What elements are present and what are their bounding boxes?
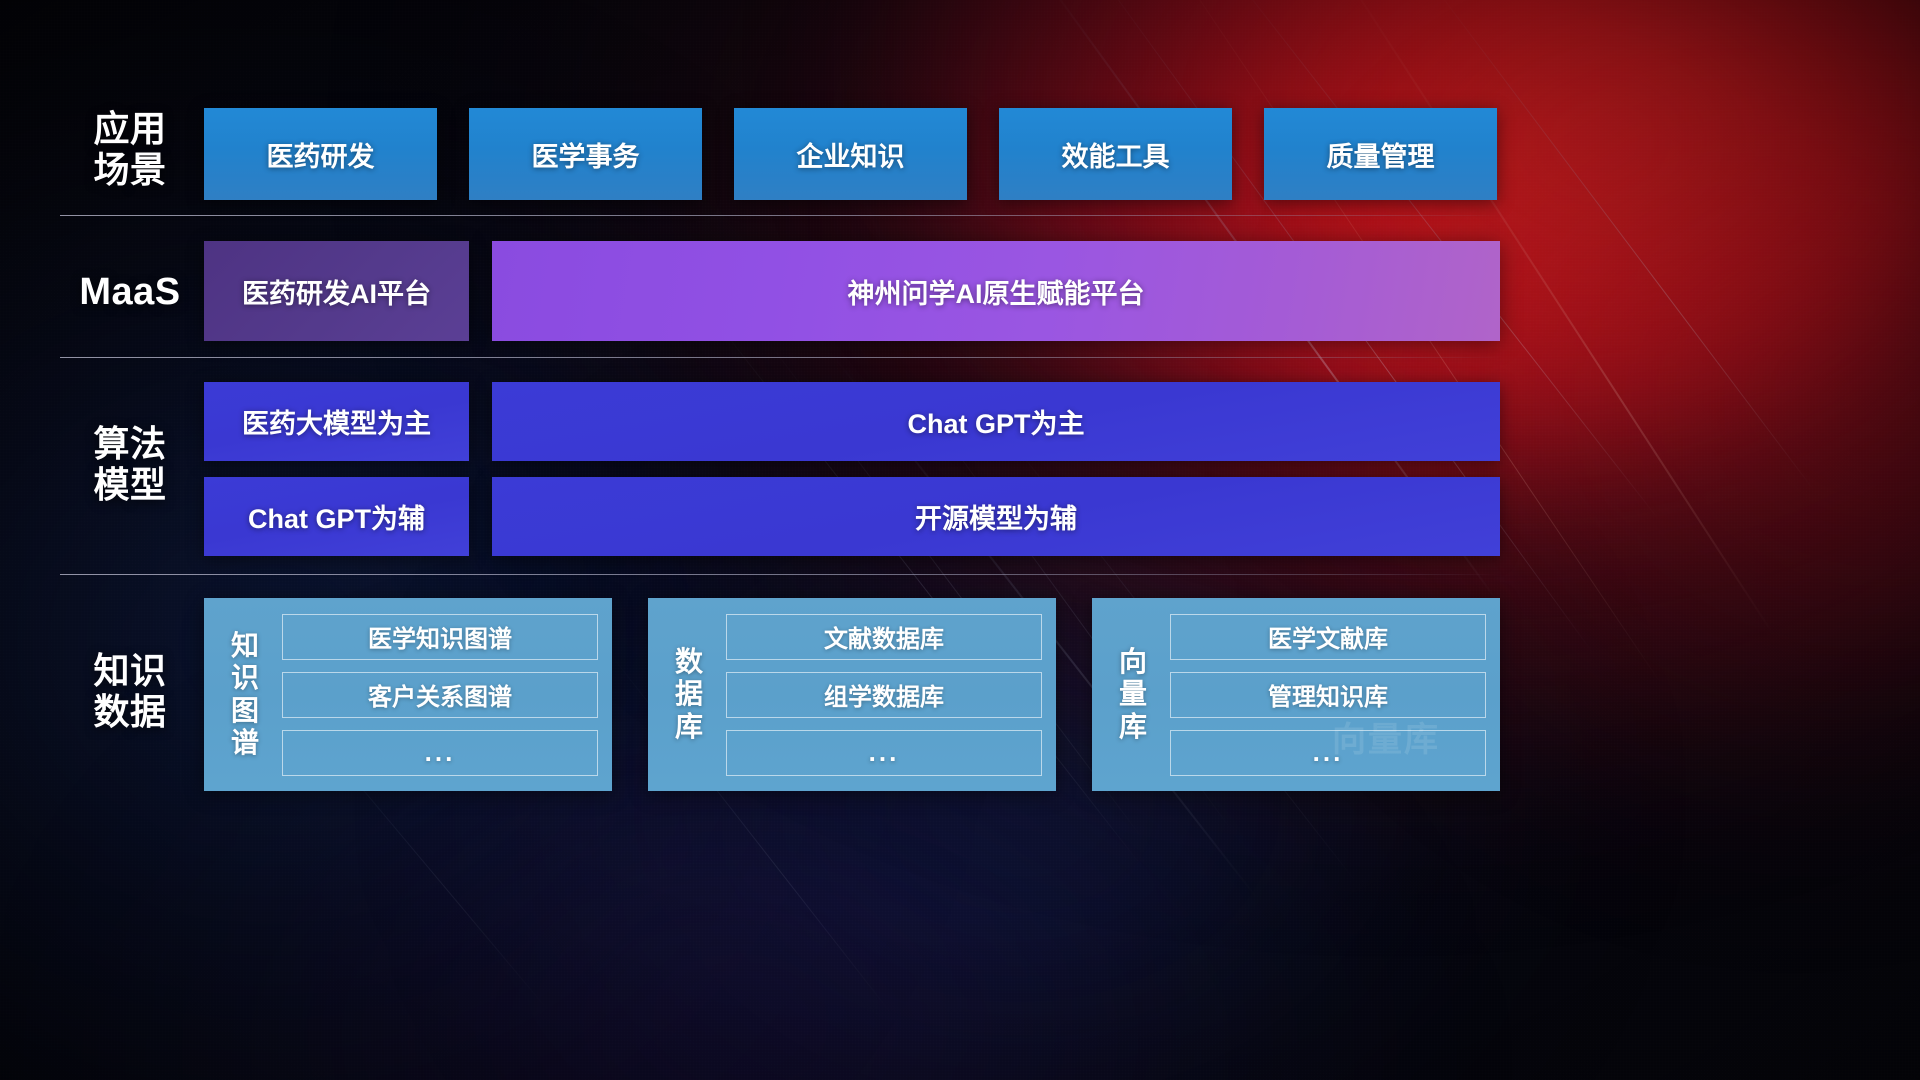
knowledge-panel-items: 文献数据库 组学数据库 ... — [726, 614, 1042, 776]
app-box-label: 质量管理 — [1327, 135, 1435, 174]
algo-box-chatgpt-secondary[interactable]: Chat GPT为辅 — [204, 477, 469, 556]
knowledge-panel-category-label: 向 量 库 — [1110, 646, 1156, 743]
knowledge-panel-database[interactable]: 数 据 库 文献数据库 组学数据库 ... — [648, 598, 1056, 791]
divider-after-algorithm-model — [60, 574, 1500, 575]
algo-box-label: Chat GPT为主 — [907, 402, 1084, 441]
app-box-label: 效能工具 — [1062, 135, 1170, 174]
knowledge-item-omics-database[interactable]: 组学数据库 — [726, 672, 1042, 718]
app-box-enterprise-knowledge[interactable]: 企业知识 — [734, 108, 967, 200]
knowledge-item-literature-database[interactable]: 文献数据库 — [726, 614, 1042, 660]
knowledge-item-label: 文献数据库 — [824, 619, 944, 654]
knowledge-panel-category-label: 知 识 图 谱 — [222, 630, 268, 760]
algo-box-label: 开源模型为辅 — [915, 497, 1077, 536]
knowledge-item-label: ... — [425, 737, 456, 768]
algo-box-open-source-secondary[interactable]: 开源模型为辅 — [492, 477, 1500, 556]
knowledge-item-management-knowledge-store[interactable]: 管理知识库 — [1170, 672, 1486, 718]
algo-box-label: Chat GPT为辅 — [248, 497, 425, 536]
row-label-algorithm-model: 算法 模型 — [60, 423, 200, 505]
knowledge-item-label: ... — [1313, 737, 1344, 768]
row-label-application-scenarios: 应用 场景 — [60, 108, 200, 190]
knowledge-item-label: 医学知识图谱 — [368, 619, 512, 654]
knowledge-item-medical-literature-store[interactable]: 医学文献库 — [1170, 614, 1486, 660]
knowledge-item-label: 客户关系图谱 — [368, 677, 512, 712]
knowledge-item-more[interactable]: ... — [282, 730, 598, 776]
knowledge-item-label: 管理知识库 — [1268, 677, 1388, 712]
maas-box-label: 神州问学AI原生赋能平台 — [848, 272, 1145, 311]
divider-after-application-scenarios — [60, 215, 1500, 216]
app-box-efficiency-tools[interactable]: 效能工具 — [999, 108, 1232, 200]
app-box-medical-affairs[interactable]: 医学事务 — [469, 108, 702, 200]
architecture-diagram: 应用 场景 医药研发 医学事务 企业知识 效能工具 质量管理 MaaS 医药研发… — [0, 0, 1920, 1080]
knowledge-panel-items: 医学文献库 管理知识库 ... — [1170, 614, 1486, 776]
row-label-knowledge-data: 知识 数据 — [60, 650, 200, 732]
knowledge-item-more[interactable]: ... — [1170, 730, 1486, 776]
knowledge-item-label: 医学文献库 — [1268, 619, 1388, 654]
row-label-maas: MaaS — [60, 271, 200, 314]
knowledge-panel-category-label: 数 据 库 — [666, 646, 712, 743]
maas-box-label: 医药研发AI平台 — [242, 272, 431, 311]
algo-box-chatgpt-primary[interactable]: Chat GPT为主 — [492, 382, 1500, 461]
knowledge-item-customer-relation-graph[interactable]: 客户关系图谱 — [282, 672, 598, 718]
app-box-medicine-rd[interactable]: 医药研发 — [204, 108, 437, 200]
maas-box-shenzhou-wenxue-platform[interactable]: 神州问学AI原生赋能平台 — [492, 241, 1500, 341]
knowledge-panel-knowledge-graph[interactable]: 知 识 图 谱 医学知识图谱 客户关系图谱 ... — [204, 598, 612, 791]
knowledge-item-label: ... — [869, 737, 900, 768]
algo-box-label: 医药大模型为主 — [242, 402, 431, 441]
knowledge-panel-items: 医学知识图谱 客户关系图谱 ... — [282, 614, 598, 776]
maas-box-pharma-ai-platform[interactable]: 医药研发AI平台 — [204, 241, 469, 341]
divider-after-maas — [60, 357, 1500, 358]
app-box-quality-management[interactable]: 质量管理 — [1264, 108, 1497, 200]
app-box-label: 医药研发 — [267, 135, 375, 174]
knowledge-item-medical-knowledge-graph[interactable]: 医学知识图谱 — [282, 614, 598, 660]
app-box-label: 医学事务 — [532, 135, 640, 174]
algo-box-pharma-large-model-primary[interactable]: 医药大模型为主 — [204, 382, 469, 461]
knowledge-item-label: 组学数据库 — [824, 677, 944, 712]
knowledge-panel-vector-store[interactable]: 向 量 库 医学文献库 管理知识库 ... — [1092, 598, 1500, 791]
knowledge-item-more[interactable]: ... — [726, 730, 1042, 776]
app-box-label: 企业知识 — [797, 135, 905, 174]
